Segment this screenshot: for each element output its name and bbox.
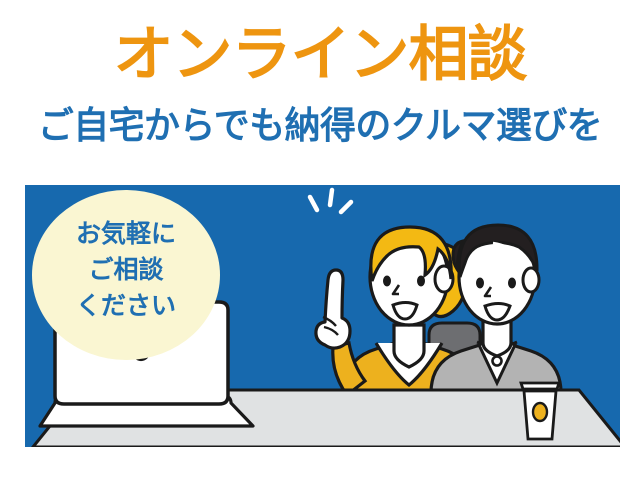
headline-area: オンライン相談 ご自宅からでも納得のクルマ選びを (0, 0, 640, 172)
speech-bubble: お気軽に ご相談 ください (32, 190, 220, 360)
speech-bubble-line-3: ください (32, 288, 220, 324)
speech-bubble-text: お気軽に ご相談 ください (32, 216, 220, 324)
page-title: オンライン相談 (0, 24, 640, 86)
speech-bubble-line-1: お気軽に (32, 216, 220, 252)
coffee-cup-icon (521, 383, 559, 439)
online-consultation-banner: オンライン相談 ご自宅からでも納得のクルマ選びを (0, 0, 640, 480)
pointing-hand-icon (316, 270, 350, 348)
speech-bubble-line-2: ご相談 (32, 252, 220, 288)
page-subtitle: ご自宅からでも納得のクルマ選びを (10, 104, 631, 148)
sparkle-icon (310, 190, 351, 212)
illustration-panel: お気軽に ご相談 ください (25, 185, 620, 447)
